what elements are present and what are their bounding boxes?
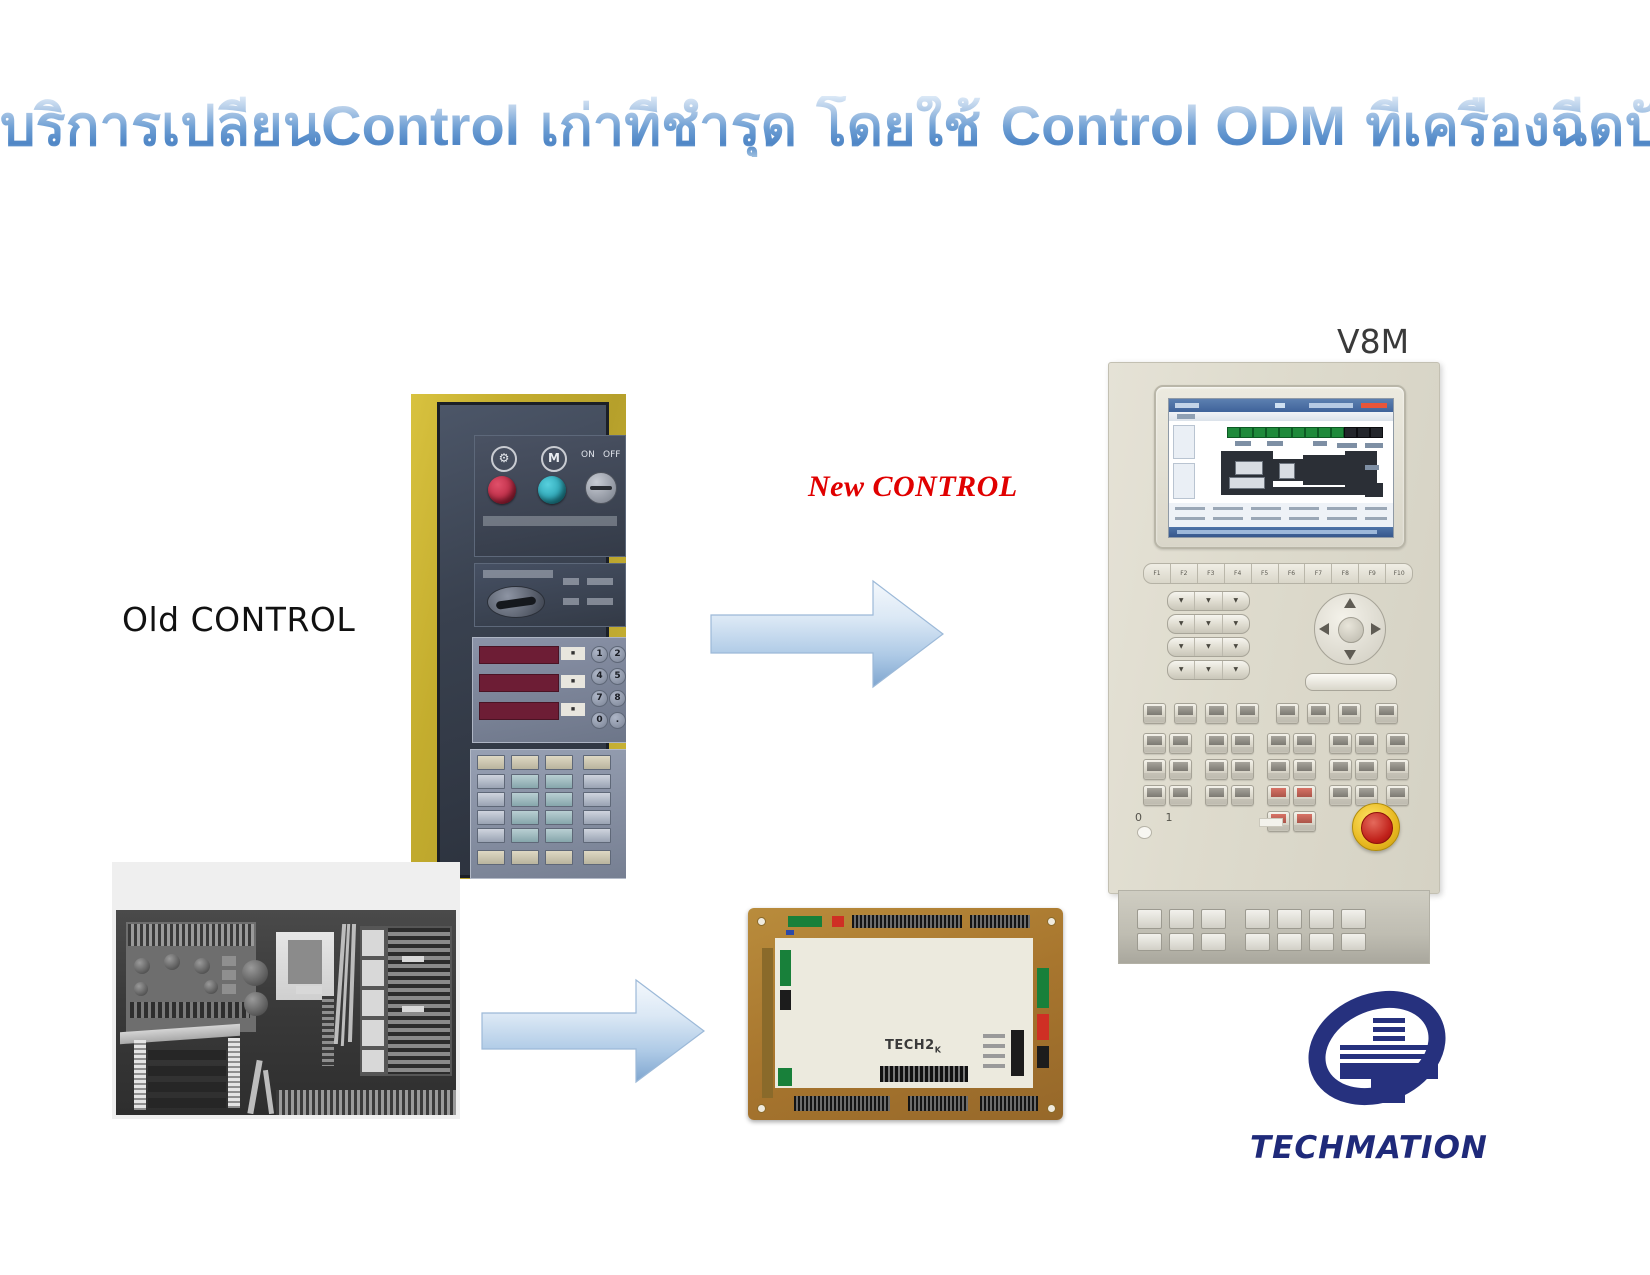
grid-key[interactable] [1338, 703, 1361, 724]
display-button[interactable]: ■ [561, 647, 585, 660]
grid-key[interactable] [1169, 785, 1192, 806]
fkey[interactable]: F4 [1225, 564, 1252, 583]
dpad-up-icon[interactable] [1344, 598, 1356, 608]
panel-function-keypad [470, 749, 626, 879]
fkey[interactable]: F3 [1198, 564, 1225, 583]
function-key-row[interactable]: F1 F2 F3 F4 F5 F6 F7 F8 F9 F10 [1143, 563, 1413, 584]
grid-key[interactable] [1169, 733, 1192, 754]
techmation-wordmark: TECHMATION [1250, 1130, 1488, 1166]
power-indicator-label: 0 1 [1135, 811, 1183, 824]
bar-button-row[interactable]: ▼▼▼ [1167, 614, 1250, 634]
display-bar [479, 702, 559, 720]
keypad-key[interactable]: 4 [591, 668, 608, 685]
display-button[interactable]: ■ [561, 703, 585, 716]
v8m-controller: F1 F2 F3 F4 F5 F6 F7 F8 F9 F10 ▼▼▼ ▼▼▼ ▼… [1108, 362, 1438, 962]
fkey[interactable]: F2 [1171, 564, 1198, 583]
grid-key[interactable] [1205, 759, 1228, 780]
screen-machine-diagram [1169, 421, 1393, 503]
cabinet-to-board-arrow [478, 975, 708, 1087]
dpad-left-icon[interactable] [1319, 623, 1329, 635]
grid-key[interactable] [1143, 703, 1166, 724]
fkey[interactable]: F5 [1252, 564, 1279, 583]
grid-key[interactable] [1143, 785, 1166, 806]
grid-key[interactable] [1386, 759, 1409, 780]
dpad-right-icon[interactable] [1371, 623, 1381, 635]
fkey[interactable]: F7 [1305, 564, 1332, 583]
old-control-panel-photo: ⚙ M ON OFF [411, 394, 626, 879]
keypad-key[interactable]: 1 [591, 646, 608, 663]
switch-on-label: ON [581, 450, 595, 460]
selector-dial[interactable] [487, 586, 545, 618]
panel-mid-section [474, 563, 626, 627]
grid-key[interactable] [1293, 759, 1316, 780]
panel-display-keypad: ■ ■ ■ 1 2 4 5 7 8 0 . [472, 637, 626, 743]
fkey[interactable]: F8 [1332, 564, 1359, 583]
grid-key[interactable] [1355, 733, 1378, 754]
grid-key[interactable] [1267, 733, 1290, 754]
keypad-key[interactable]: 2 [609, 646, 626, 663]
grid-key[interactable] [1386, 733, 1409, 754]
panel-strip [483, 516, 617, 526]
panel-slot [1259, 818, 1283, 827]
fkey[interactable]: F9 [1359, 564, 1386, 583]
board-faceplate: TECH2K [775, 938, 1033, 1088]
display-bar [479, 674, 559, 692]
grid-key[interactable] [1205, 703, 1228, 724]
grid-key[interactable] [1231, 759, 1254, 780]
page-title: บริการเปลี่ยนControl เก่าที่ชำรุด โดยใช้… [0, 96, 1650, 157]
old-electrical-cabinet-photo [112, 862, 460, 1119]
grid-key[interactable] [1169, 759, 1192, 780]
grid-key[interactable] [1143, 759, 1166, 780]
enter-bar-button[interactable] [1305, 673, 1397, 691]
slide-canvas: บริการเปลี่ยนControl เก่าที่ชำรุด โดยใช้… [0, 0, 1650, 1275]
auto-icon: ⚙ [491, 446, 517, 472]
fkey[interactable]: F10 [1386, 564, 1412, 583]
grid-key[interactable] [1236, 703, 1259, 724]
grid-key[interactable] [1329, 733, 1352, 754]
bar-button-row[interactable]: ▼▼▼ [1167, 591, 1250, 611]
display-button[interactable]: ■ [561, 675, 585, 688]
auto-button[interactable] [488, 476, 516, 504]
grid-key[interactable] [1355, 759, 1378, 780]
screen-bezel [1154, 385, 1406, 549]
grid-key-alarm[interactable] [1267, 785, 1290, 806]
bar-button-row[interactable]: ▼▼▼ [1167, 637, 1250, 657]
new-control-label: New CONTROL [808, 470, 1018, 504]
display-bar [479, 646, 559, 664]
grid-key[interactable] [1293, 733, 1316, 754]
grid-key[interactable] [1231, 733, 1254, 754]
key-switch[interactable] [585, 472, 617, 504]
old-to-new-panel-arrow [707, 575, 947, 693]
grid-key[interactable] [1329, 759, 1352, 780]
switch-off-label: OFF [603, 450, 620, 460]
bar-button-row[interactable]: ▼▼▼ [1167, 660, 1250, 680]
emergency-stop-button[interactable] [1352, 803, 1400, 851]
fkey[interactable]: F1 [1144, 564, 1171, 583]
grid-key[interactable] [1174, 703, 1197, 724]
dpad-navigation[interactable] [1314, 593, 1386, 665]
grid-key[interactable] [1307, 703, 1330, 724]
dpad-center-button[interactable] [1338, 617, 1364, 643]
keypad-key[interactable]: . [609, 712, 626, 729]
fkey[interactable]: F6 [1279, 564, 1306, 583]
panel-body: ⚙ M ON OFF [437, 402, 609, 878]
v8m-screen[interactable] [1168, 398, 1394, 538]
keypad-key[interactable]: 0 [591, 712, 608, 729]
grid-key-stop[interactable] [1293, 811, 1316, 832]
keypad-key[interactable]: 5 [609, 668, 626, 685]
keypad-key[interactable]: 7 [591, 690, 608, 707]
screen-title-bar [1169, 399, 1393, 412]
grid-key[interactable] [1205, 733, 1228, 754]
grid-key[interactable] [1375, 703, 1398, 724]
grid-key[interactable] [1231, 785, 1254, 806]
grid-key[interactable] [1205, 785, 1228, 806]
tech2k-control-board-photo: TECH2K [748, 908, 1063, 1120]
cabinet-interior [116, 910, 456, 1115]
grid-key[interactable] [1329, 785, 1352, 806]
emergency-stop-knob[interactable] [1361, 812, 1393, 844]
grid-key[interactable] [1276, 703, 1299, 724]
keypad-key[interactable]: 8 [609, 690, 626, 707]
manual-icon: M [541, 446, 567, 472]
screen-parameter-table [1169, 503, 1393, 527]
grid-key[interactable] [1386, 785, 1409, 806]
power-indicator-led [1137, 826, 1152, 839]
grid-key-alarm[interactable] [1293, 785, 1316, 806]
grid-key[interactable] [1267, 759, 1290, 780]
v8m-front-panel: F1 F2 F3 F4 F5 F6 F7 F8 F9 F10 ▼▼▼ ▼▼▼ ▼… [1108, 362, 1440, 894]
screen-status-bar [1169, 527, 1393, 537]
old-control-label: Old CONTROL [122, 600, 355, 639]
grid-key[interactable] [1143, 733, 1166, 754]
techmation-logo-mark [1285, 978, 1470, 1128]
board-model-label: TECH2K [885, 1038, 941, 1055]
v8m-model-label: V8M [1337, 322, 1409, 361]
v8m-base-keypad [1118, 890, 1430, 964]
panel-top-section: ⚙ M ON OFF [474, 435, 626, 557]
dpad-down-icon[interactable] [1344, 650, 1356, 660]
manual-button[interactable] [538, 476, 566, 504]
